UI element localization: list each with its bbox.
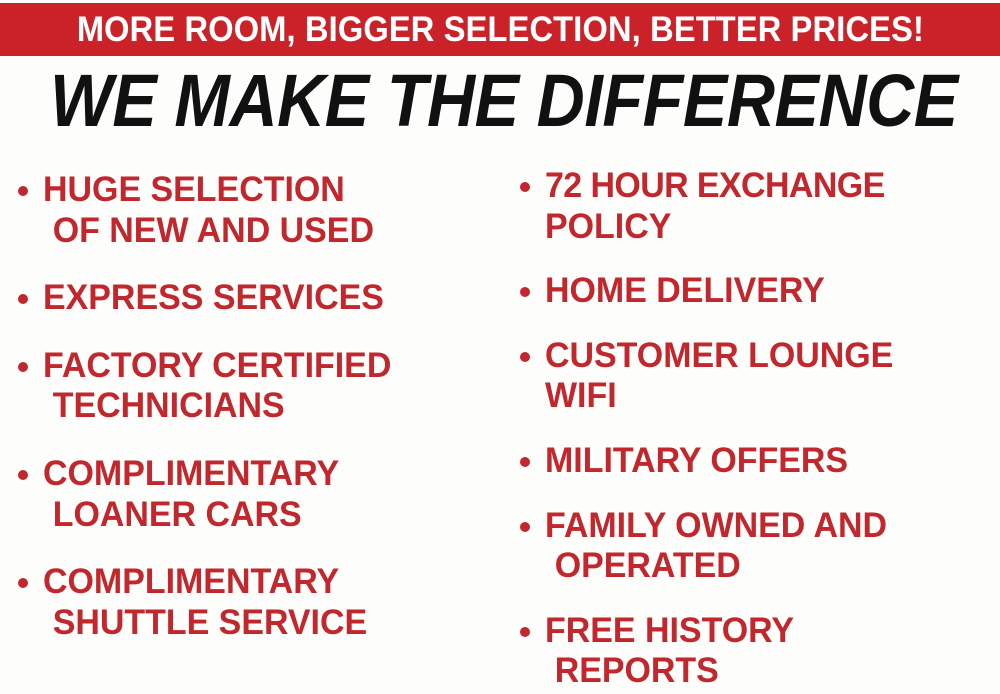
list-item: FREE HISTORY REPORTS [520,611,1000,692]
list-item-line: MILITARY OFFERS [545,441,986,482]
list-item-text: MILITARY OFFERS [545,441,986,482]
bullet-dot-icon [520,627,530,637]
bullet-dot-icon [520,457,530,467]
list-item-line: LOANER CARS [43,495,486,536]
list-item-line: REPORTS [545,651,986,692]
list-item-text: COMPLIMENTARY LOANER CARS [43,454,486,535]
list-item-line: COMPLIMENTARY [43,562,486,603]
list-item-line: SHUTTLE SERVICE [43,603,486,644]
list-item-line: HOME DELIVERY [545,271,986,312]
list-item: EXPRESS SERVICES [18,278,500,319]
list-item: HUGE SELECTION OF NEW AND USED [18,170,500,251]
benefits-column-left: HUGE SELECTION OF NEW AND USED EXPRESS S… [0,156,500,670]
bullet-dot-icon [520,352,530,362]
bullet-dot-icon [520,522,530,532]
list-item: FAMILY OWNED AND OPERATED [520,506,1000,587]
benefits-column-right: 72 HOUR EXCHANGE POLICY HOME DELIVERY CU… [500,156,1000,694]
list-item-text: HUGE SELECTION OF NEW AND USED [43,170,486,251]
page-title: WE MAKE THE DIFFERENCE [50,64,950,138]
bullet-dot-icon [18,470,28,480]
list-item: COMPLIMENTARY SHUTTLE SERVICE [18,562,500,643]
bullet-dot-icon [18,294,28,304]
list-item-line: FAMILY OWNED AND [545,506,986,547]
list-item-line: FACTORY CERTIFIED [43,346,486,387]
headline-strip-text: MORE ROOM, BIGGER SELECTION, BETTER PRIC… [76,12,923,47]
list-item: HOME DELIVERY [520,271,1000,312]
bullet-dot-icon [520,287,530,297]
list-item-line: WIFI [545,376,986,417]
list-item: COMPLIMENTARY LOANER CARS [18,454,500,535]
list-item: MILITARY OFFERS [520,441,1000,482]
list-item: FACTORY CERTIFIED TECHNICIANS [18,346,500,427]
list-item-line: OPERATED [545,546,986,587]
bullet-dot-icon [18,362,28,372]
bullet-dot-icon [520,182,530,192]
list-item-line: EXPRESS SERVICES [43,278,486,319]
list-item: 72 HOUR EXCHANGE POLICY [520,166,1000,247]
promotional-banner: MORE ROOM, BIGGER SELECTION, BETTER PRIC… [0,0,1000,694]
list-item-line: TECHNICIANS [43,386,486,427]
list-item-text: FACTORY CERTIFIED TECHNICIANS [43,346,486,427]
list-item-line: COMPLIMENTARY [43,454,486,495]
list-item: CUSTOMER LOUNGE WIFI [520,336,1000,417]
list-item-line: HUGE SELECTION [43,170,486,211]
list-item-text: 72 HOUR EXCHANGE POLICY [545,166,986,247]
list-item-line: POLICY [545,207,986,248]
list-item-text: FREE HISTORY REPORTS [545,611,986,692]
bullet-dot-icon [18,578,28,588]
list-item-text: CUSTOMER LOUNGE WIFI [545,336,986,417]
list-item-text: HOME DELIVERY [545,271,986,312]
list-item-line: OF NEW AND USED [43,211,486,252]
headline-strip: MORE ROOM, BIGGER SELECTION, BETTER PRIC… [0,3,1000,56]
list-item-line: CUSTOMER LOUNGE [545,336,986,377]
list-item-text: FAMILY OWNED AND OPERATED [545,506,986,587]
bullet-dot-icon [18,186,28,196]
list-item-line: 72 HOUR EXCHANGE [545,166,986,207]
list-item-text: COMPLIMENTARY SHUTTLE SERVICE [43,562,486,643]
list-item-line: FREE HISTORY [545,611,986,652]
benefits-columns: HUGE SELECTION OF NEW AND USED EXPRESS S… [0,156,1000,694]
list-item-text: EXPRESS SERVICES [43,278,486,319]
